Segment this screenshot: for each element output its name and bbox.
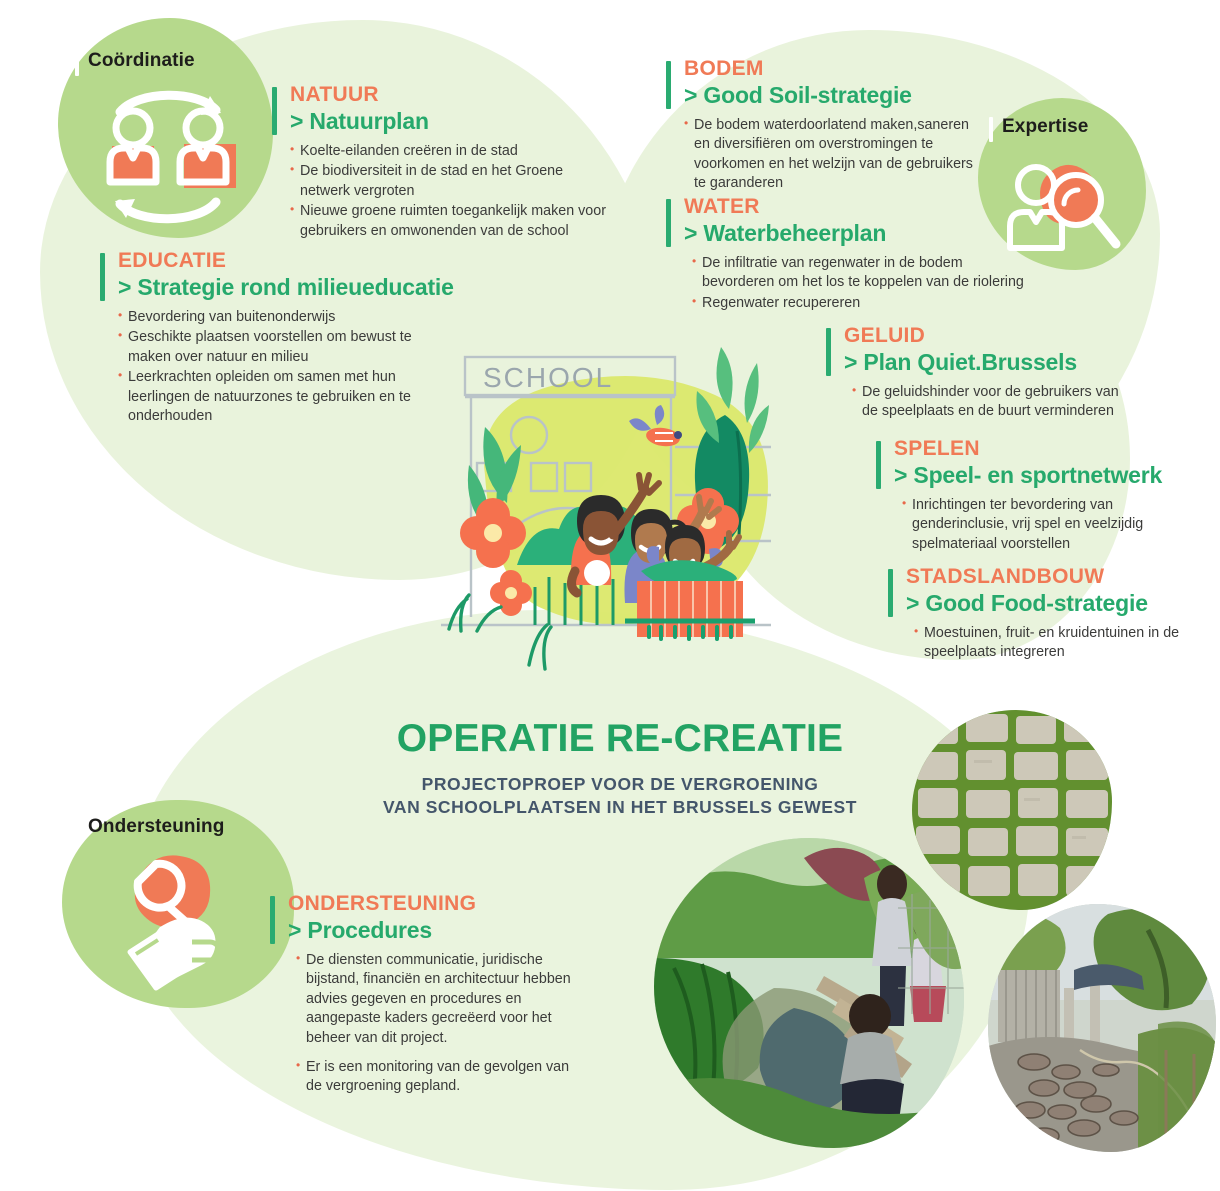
list-item: De biodiversiteit in de stad en het Groe… bbox=[290, 162, 617, 201]
topic-kicker: WATER bbox=[684, 196, 1026, 219]
list-item: Er is een monitoring van de gevolgen van… bbox=[296, 1058, 580, 1097]
topic-kicker: SPELEN bbox=[894, 438, 1196, 461]
topic-bullet-list: De geluidshinder voor de gebruikers van … bbox=[844, 383, 1136, 422]
accent-bar bbox=[876, 441, 881, 489]
topic-bullet-list: De bodem waterdoorlatend maken,saneren e… bbox=[684, 116, 976, 194]
list-item: De geluidshinder voor de gebruikers van … bbox=[852, 383, 1136, 422]
accent-bar bbox=[272, 87, 277, 135]
accent-bar bbox=[666, 61, 671, 109]
topic-kicker: STADSLANDBOUW bbox=[906, 566, 1188, 589]
badge-label-expertise: Expertise bbox=[1002, 116, 1088, 138]
badge-coordinatie-text: Coördinatie bbox=[88, 50, 195, 71]
topic-kicker: EDUCATIE bbox=[118, 250, 430, 273]
tree-stump-playground-photo bbox=[988, 904, 1216, 1152]
topic-bullet-list: De infiltratie van regenwater in de bode… bbox=[684, 254, 1026, 313]
headline-block: OPERATIE RE-CREATIE PROJECTOPROEP VOOR D… bbox=[300, 718, 940, 820]
badge-ondersteuning-text: Ondersteuning bbox=[88, 816, 224, 837]
list-item: Moestuinen, fruit- en kruidentuinen in d… bbox=[914, 624, 1188, 663]
topic-bullet-list: Koelte-eilanden creëren in de stad De bi… bbox=[290, 142, 617, 241]
list-item: De diensten communicatie, juridische bij… bbox=[296, 951, 580, 1048]
list-item: De infiltratie van regenwater in de bode… bbox=[692, 254, 1026, 293]
badge-tick bbox=[75, 51, 79, 76]
topic-spelen: SPELEN > Speel- en sportnetwerk Inrichti… bbox=[876, 438, 1196, 555]
topic-kicker: GELUID bbox=[844, 325, 1136, 348]
topic-title: > Speel- en sportnetwerk bbox=[894, 462, 1196, 489]
page-title: OPERATIE RE-CREATIE bbox=[300, 718, 940, 761]
school-sign-text: SCHOOL bbox=[483, 362, 613, 393]
accent-bar bbox=[100, 253, 105, 301]
topic-geluid: GELUID > Plan Quiet.Brussels De geluidsh… bbox=[826, 325, 1136, 423]
topic-title: > Good Soil-strategie bbox=[684, 82, 976, 109]
hand-wrench-icon bbox=[100, 838, 260, 993]
topic-title: > Natuurplan bbox=[290, 108, 617, 135]
list-item: Bevordering van buitenonderwijs bbox=[118, 308, 430, 327]
school-pond-garden-photo bbox=[654, 838, 964, 1148]
list-item: Regenwater recupereren bbox=[692, 294, 1026, 313]
list-item: Leerkrachten opleiden om samen met hun l… bbox=[118, 368, 430, 426]
topic-natuur: NATUUR > Natuurplan Koelte-eilanden creë… bbox=[272, 84, 617, 242]
topic-title: > Strategie rond milieueducatie bbox=[118, 274, 430, 301]
list-item: Geschikte plaatsen voorstellen om bewust… bbox=[118, 328, 430, 367]
grass-paver-stones-photo bbox=[912, 710, 1112, 910]
infographic-page: Coördinatie Expertise Ondersteuning bbox=[0, 0, 1220, 1191]
topic-bullet-list: Moestuinen, fruit- en kruidentuinen in d… bbox=[906, 624, 1188, 663]
page-subtitle: PROJECTOPROEP VOOR DE VERGROENING VAN SC… bbox=[300, 773, 940, 820]
accent-bar bbox=[270, 896, 275, 944]
accent-bar bbox=[666, 199, 671, 247]
accent-bar bbox=[888, 569, 893, 617]
planter-sprouts bbox=[649, 627, 731, 639]
badge-tick bbox=[75, 817, 79, 842]
topic-bullet-list: Bevordering van buitenonderwijs Geschikt… bbox=[118, 308, 430, 427]
topic-bullet-list: De diensten communicatie, juridische bij… bbox=[288, 951, 580, 1097]
topic-title: > Procedures bbox=[288, 917, 580, 944]
badge-expertise-text: Expertise bbox=[1002, 116, 1088, 137]
topic-title: > Plan Quiet.Brussels bbox=[844, 349, 1136, 376]
topic-kicker: ONDERSTEUNING bbox=[288, 893, 580, 916]
page-subtitle-line1: PROJECTOPROEP VOOR DE VERGROENING bbox=[300, 773, 940, 796]
topic-water: WATER > Waterbeheerplan De infiltratie v… bbox=[666, 196, 1026, 314]
topic-kicker: NATUUR bbox=[290, 84, 617, 107]
two-people-exchange-icon bbox=[88, 82, 248, 232]
badge-tick bbox=[989, 117, 993, 142]
topic-stadslandbouw: STADSLANDBOUW > Good Food-strategie Moes… bbox=[888, 566, 1188, 664]
badge-label-coordinatie: Coördinatie bbox=[88, 50, 195, 72]
topic-bullet-list: Inrichtingen ter bevordering van genderi… bbox=[894, 496, 1196, 554]
badge-label-ondersteuning: Ondersteuning bbox=[88, 816, 224, 838]
list-item: Koelte-eilanden creëren in de stad bbox=[290, 142, 617, 161]
topic-educatie: EDUCATIE > Strategie rond milieueducatie… bbox=[100, 250, 430, 427]
topic-bodem: BODEM > Good Soil-strategie De bodem wat… bbox=[666, 58, 976, 195]
accent-bar bbox=[826, 328, 831, 376]
topic-kicker: BODEM bbox=[684, 58, 976, 81]
list-item: Nieuwe groene ruimten toegankelijk maken… bbox=[290, 202, 617, 241]
list-item: De bodem waterdoorlatend maken,saneren e… bbox=[684, 116, 976, 194]
topic-ondersteuning: ONDERSTEUNING > Procedures De diensten c… bbox=[270, 893, 580, 1098]
topic-title: > Waterbeheerplan bbox=[684, 220, 1026, 247]
page-subtitle-line2: VAN SCHOOLPLAATSEN IN HET BRUSSELS GEWES… bbox=[300, 796, 940, 819]
topic-title: > Good Food-strategie bbox=[906, 590, 1188, 617]
list-item: Inrichtingen ter bevordering van genderi… bbox=[902, 496, 1196, 554]
school-playground-illustration: SCHOOL bbox=[425, 335, 785, 690]
